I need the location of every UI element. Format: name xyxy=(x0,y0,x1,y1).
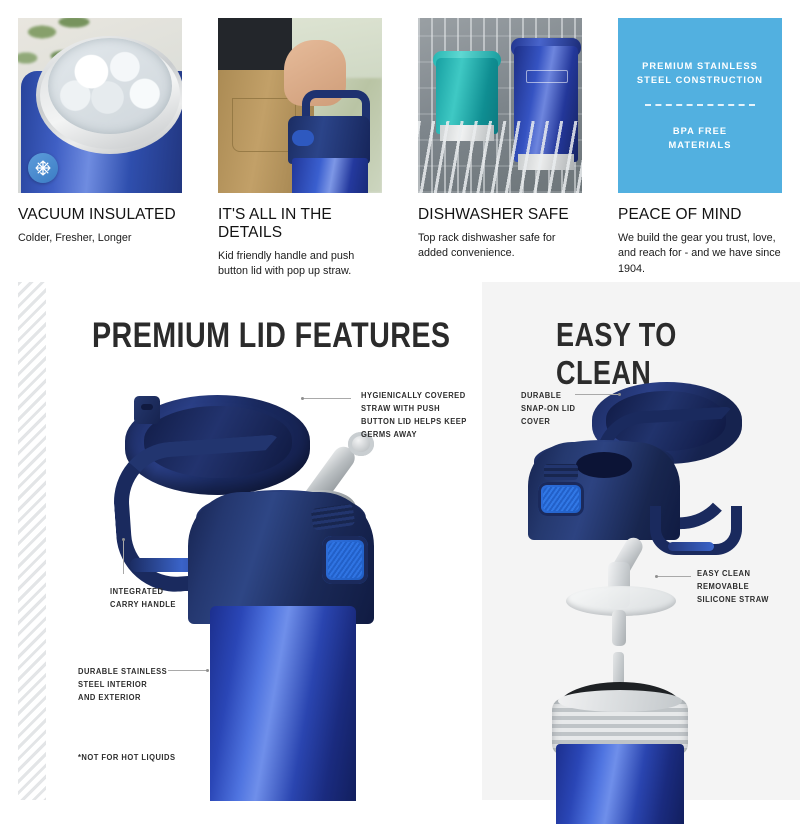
feature-title: VACUUM INSULATED xyxy=(18,206,182,224)
feature-title: DISHWASHER SAFE xyxy=(418,206,582,224)
feature-subtitle: Top rack dishwasher safe for added conve… xyxy=(418,231,582,262)
feature-image-dishwasher-safe xyxy=(418,18,582,193)
leader-dot-hygienic-straw xyxy=(301,397,304,400)
leader-line-carry-handle xyxy=(123,540,124,574)
callout-hygienic-straw: HYGIENICALLY COVERED STRAW WITH PUSH BUT… xyxy=(361,389,493,441)
bottle-body-graphic xyxy=(210,606,356,801)
lid-tab-graphic xyxy=(134,396,160,424)
panel-line-1: PREMIUM STAINLESS xyxy=(642,59,758,73)
leader-dot-silicone-straw xyxy=(655,575,658,578)
snowflake-icon xyxy=(28,153,58,183)
bottle-body-graphic xyxy=(292,158,368,193)
feature-subtitle: Colder, Fresher, Longer xyxy=(18,231,182,247)
premium-lid-illustration xyxy=(60,300,460,800)
ice-cubes-graphic xyxy=(48,38,172,134)
feature-image-vacuum-insulated xyxy=(18,18,182,193)
feature-card-vacuum-insulated[interactable]: VACUUM INSULATED Colder, Fresher, Longer xyxy=(0,0,200,278)
leader-line-silicone-straw xyxy=(657,576,691,577)
feature-card-peace-of-mind[interactable]: PREMIUM STAINLESS STEEL CONSTRUCTION BPA… xyxy=(600,0,800,278)
panel-line-2: STEEL CONSTRUCTION xyxy=(637,73,763,87)
silicone-straw-tail xyxy=(612,610,626,646)
feature-title: IT'S ALL IN THE DETAILS xyxy=(218,206,382,242)
leader-dot-carry-handle xyxy=(122,538,125,541)
panel-line-4: MATERIALS xyxy=(669,138,732,152)
callout-silicone-straw: EASY CLEAN REMOVABLE SILICONE STRAW xyxy=(697,567,800,606)
thermos-logo-mark xyxy=(526,70,568,83)
callout-carry-handle: INTEGRATED CARRY HANDLE xyxy=(110,585,224,611)
feature-panel-peace-of-mind: PREMIUM STAINLESS STEEL CONSTRUCTION BPA… xyxy=(618,18,782,193)
feature-card-details[interactable]: IT'S ALL IN THE DETAILS Kid friendly han… xyxy=(200,0,400,278)
bottle-body-graphic xyxy=(556,744,684,824)
callout-stainless-steel: DURABLE STAINLESS STEEL INTERIOR AND EXT… xyxy=(78,665,210,704)
feature-image-details xyxy=(218,18,382,193)
pocket-graphic xyxy=(232,98,296,152)
rack-tines-graphic xyxy=(418,121,582,193)
dashed-divider xyxy=(645,104,755,106)
callout-snap-on-lid: DURABLE SNAP-ON LID COVER xyxy=(521,389,627,428)
button-ridge-graphic xyxy=(544,464,578,480)
feature-subtitle: We build the gear you trust, love, and r… xyxy=(618,231,782,278)
feature-card-dishwasher-safe[interactable]: DISHWASHER SAFE Top rack dishwasher safe… xyxy=(400,0,600,278)
callout-hot-liquids-note: *NOT FOR HOT LIQUIDS xyxy=(78,751,228,764)
feature-subtitle: Kid friendly handle and push button lid … xyxy=(218,249,382,280)
hatch-stripe-decoration xyxy=(18,282,46,800)
lid-opening-graphic xyxy=(576,452,632,478)
feature-strip: VACUUM INSULATED Colder, Fresher, Longer… xyxy=(0,0,800,278)
leader-line-hygienic-straw xyxy=(303,398,351,399)
handle-strap-highlight xyxy=(668,542,714,551)
easy-to-clean-illustration xyxy=(500,300,800,800)
panel-line-3: BPA FREE xyxy=(673,124,727,138)
push-button-graphic xyxy=(538,482,584,516)
push-button-graphic xyxy=(322,536,368,584)
push-button-graphic xyxy=(292,130,314,146)
feature-title: PEACE OF MIND xyxy=(618,206,782,224)
